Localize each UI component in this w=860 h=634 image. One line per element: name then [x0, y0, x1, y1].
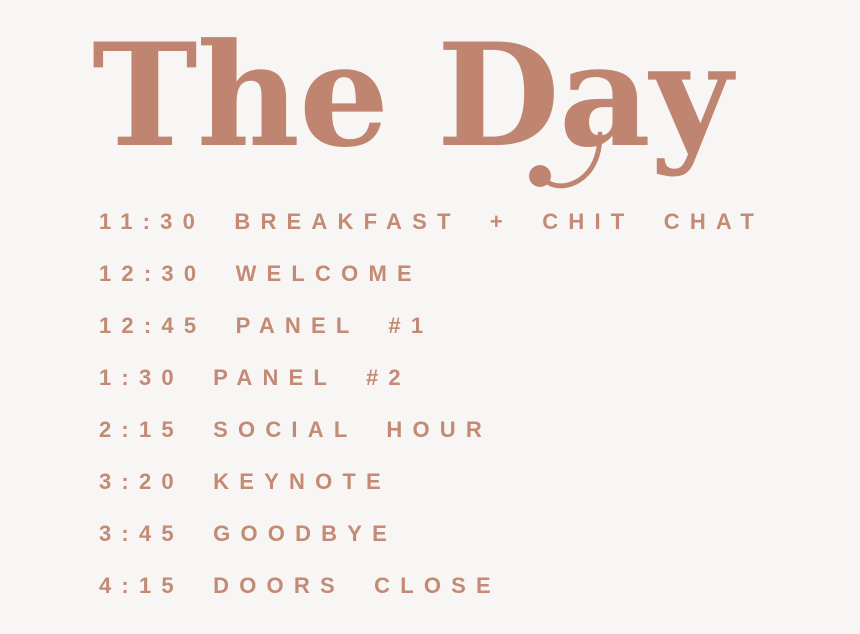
schedule-row: 2:15 SOCIAL HOUR: [99, 404, 839, 456]
schedule-row: 12:45 PANEL #1: [99, 300, 839, 352]
poster-title: The Day: [88, 8, 788, 198]
schedule-row: 1:30 PANEL #2: [99, 352, 839, 404]
title-text: The Day: [92, 13, 736, 179]
schedule-poster: The Day 11:30 BREAKFAST + CHIT CHAT 12:3…: [0, 0, 860, 634]
schedule-row: 11:30 BREAKFAST + CHIT CHAT: [99, 196, 839, 248]
schedule-list: 11:30 BREAKFAST + CHIT CHAT 12:30 WELCOM…: [99, 196, 839, 612]
title-artwork: The Day: [88, 8, 788, 198]
schedule-row: 4:15 DOORS CLOSE: [99, 560, 839, 612]
schedule-row: 12:30 WELCOME: [99, 248, 839, 300]
schedule-row: 3:20 KEYNOTE: [99, 456, 839, 508]
schedule-row: 3:45 GOODBYE: [99, 508, 839, 560]
y-ball-terminal-icon: [529, 165, 551, 187]
